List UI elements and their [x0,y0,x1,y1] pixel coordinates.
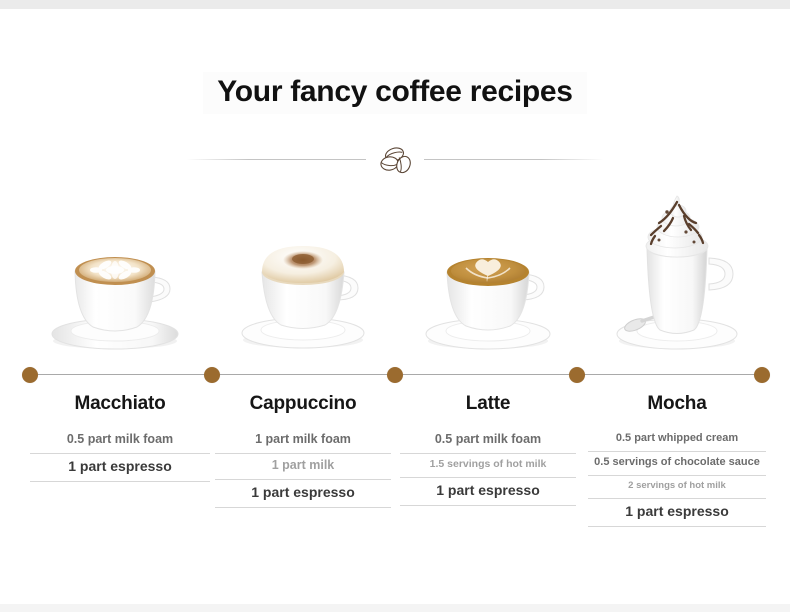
timeline [0,367,790,385]
divider-line-left [186,159,366,160]
recipe-ingredient: 0.5 part whipped cream [588,428,766,452]
recipe-ingredient: 1 part espresso [588,499,766,527]
recipe-column-macchiato: Macchiato 0.5 part milk foam 1 part espr… [30,392,210,482]
recipe-ingredient: 1 part espresso [215,480,391,508]
recipe-ingredient: 1 part espresso [30,454,210,482]
timeline-dot[interactable] [569,367,585,383]
recipe-columns: Macchiato 0.5 part milk foam 1 part espr… [0,392,790,562]
recipe-ingredient-list: 1 part milk foam 1 part milk 1 part espr… [215,428,391,508]
cappuccino-cup-photo [212,182,394,360]
recipe-ingredient: 1 part milk [215,454,391,480]
page-title: Your fancy coffee recipes [203,72,586,114]
recipe-ingredient: 0.5 part milk foam [400,428,576,454]
bottom-edge-band [0,604,790,612]
divider-line-right [424,159,604,160]
macchiato-cup-photo [22,182,208,360]
infographic-page: Your fancy coffee recipes [0,0,790,612]
page-title-container: Your fancy coffee recipes [0,72,790,114]
recipe-title: Cappuccino [215,392,391,416]
recipe-column-latte: Latte 0.5 part milk foam 1.5 servings of… [400,392,576,506]
recipe-title: Latte [400,392,576,416]
recipe-ingredient-list: 0.5 part milk foam 1.5 servings of hot m… [400,428,576,506]
timeline-dot[interactable] [204,367,220,383]
coffee-beans-icon [372,142,418,176]
recipe-column-cappuccino: Cappuccino 1 part milk foam 1 part milk … [215,392,391,508]
recipe-ingredient: 0.5 servings of chocolate sauce [588,452,766,476]
recipe-ingredient: 0.5 part milk foam [30,428,210,454]
timeline-dot[interactable] [22,367,38,383]
recipe-title: Mocha [588,392,766,416]
recipe-ingredient: 1.5 servings of hot milk [400,454,576,478]
recipe-title: Macchiato [30,392,210,416]
recipe-ingredient-list: 0.5 part milk foam 1 part espresso [30,428,210,482]
coffee-images-row [0,182,790,360]
latte-cup-photo [398,182,578,360]
recipe-ingredient-list: 0.5 part whipped cream 0.5 servings of c… [588,428,766,527]
timeline-dot[interactable] [387,367,403,383]
timeline-dot[interactable] [754,367,770,383]
mocha-mug-photo [582,182,766,360]
section-divider [0,142,790,176]
top-edge-band [0,0,790,9]
recipe-ingredient: 1 part espresso [400,478,576,506]
recipe-column-mocha: Mocha 0.5 part whipped cream 0.5 serving… [588,392,766,527]
recipe-ingredient: 1 part milk foam [215,428,391,454]
recipe-ingredient: 2 servings of hot milk [588,476,766,499]
